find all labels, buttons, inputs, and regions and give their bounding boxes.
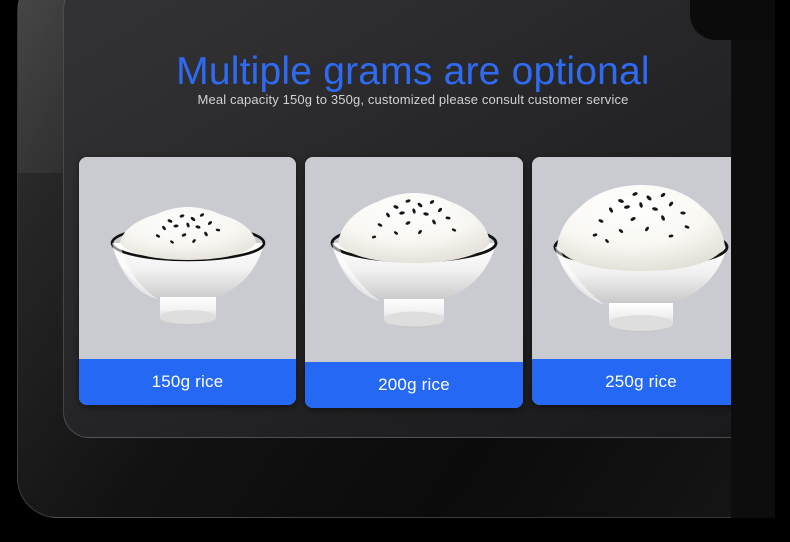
page-title: Multiple grams are optional bbox=[64, 50, 762, 94]
rice-option-label: 200g rice bbox=[305, 362, 523, 408]
rice-option-card[interactable]: 250g rice bbox=[532, 157, 750, 405]
rice-option-label: 150g rice bbox=[79, 359, 296, 405]
rice-option-card[interactable]: 150g rice bbox=[79, 157, 296, 405]
page-edge-bottom bbox=[0, 518, 790, 542]
rice-bowl-image bbox=[305, 157, 523, 362]
device-body: Multiple grams are optional Meal capacit… bbox=[17, 0, 772, 518]
content-panel: Multiple grams are optional Meal capacit… bbox=[63, 0, 763, 438]
rice-option-label: 250g rice bbox=[532, 359, 750, 405]
page-edge-right bbox=[775, 0, 790, 542]
rice-options-row: 150g rice bbox=[79, 157, 751, 407]
rice-bowl-image bbox=[532, 157, 750, 359]
page-edge-left bbox=[0, 0, 17, 542]
page-subtitle: Meal capacity 150g to 350g, customized p… bbox=[64, 92, 762, 107]
rice-bowl-icon bbox=[316, 185, 512, 331]
rice-bowl-icon bbox=[537, 179, 745, 335]
rice-bowl-image bbox=[79, 157, 296, 359]
promo-banner: Multiple grams are optional Meal capacit… bbox=[0, 0, 790, 542]
rice-bowl-icon bbox=[98, 197, 278, 327]
rice-option-card[interactable]: 200g rice bbox=[305, 157, 523, 408]
